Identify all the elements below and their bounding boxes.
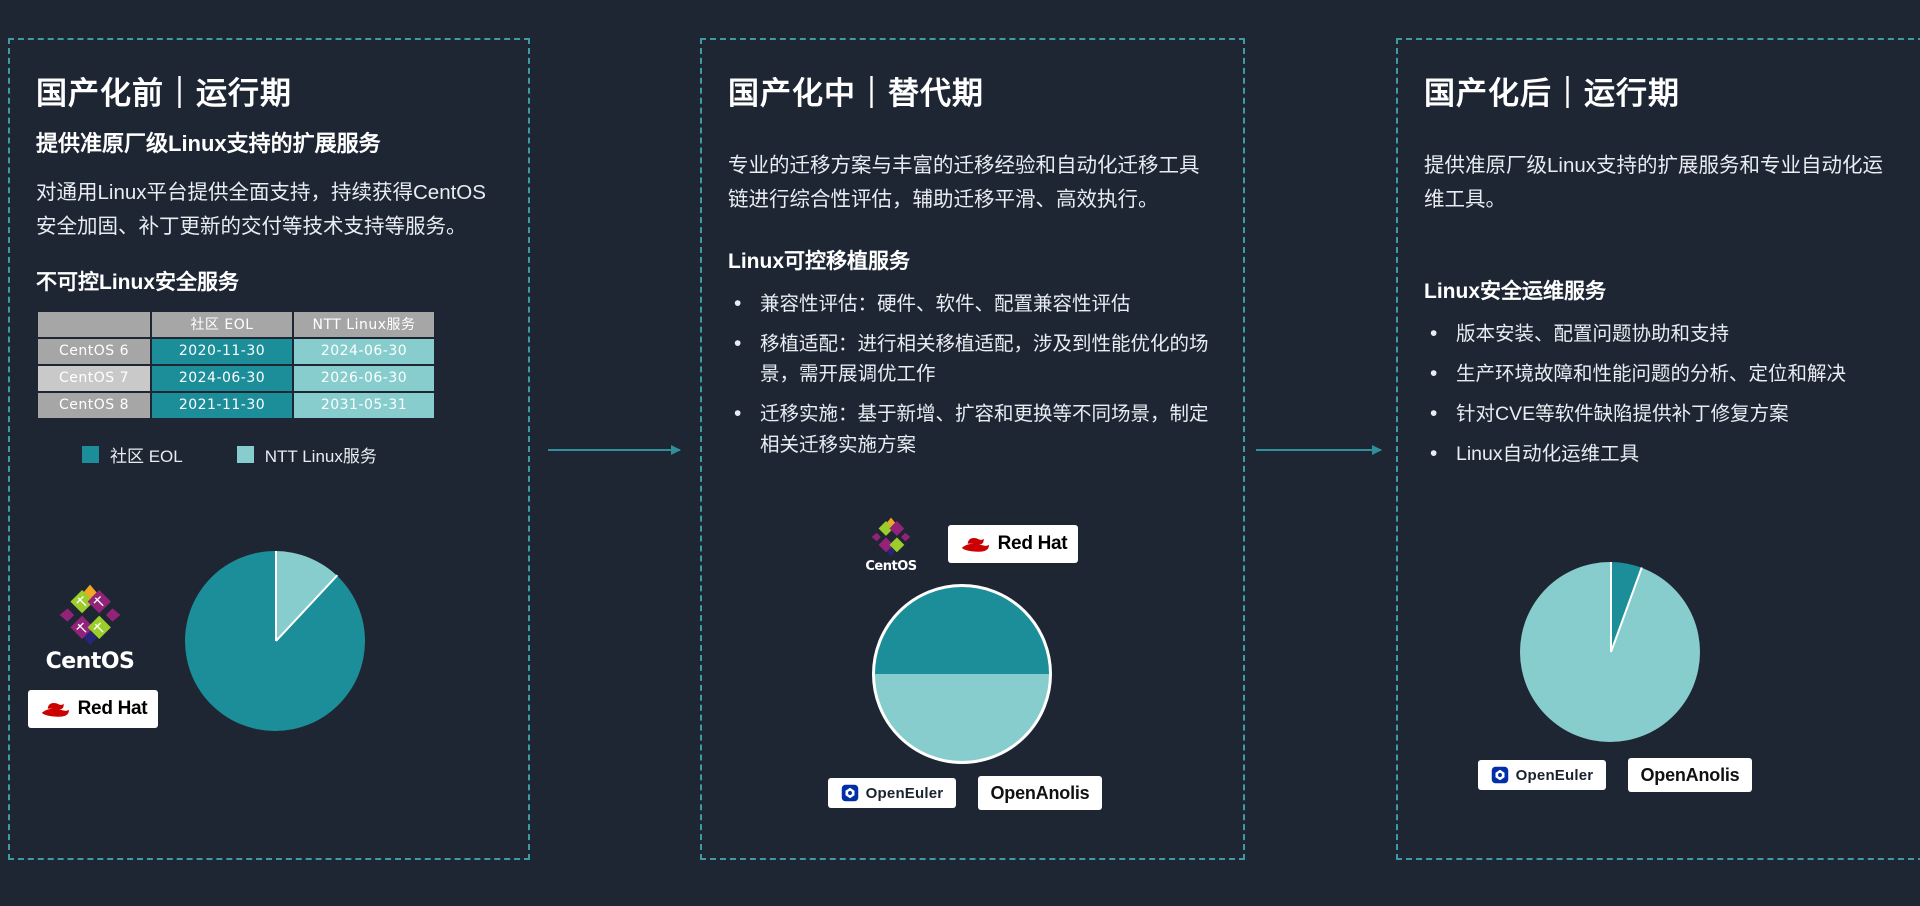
panel-1-subtitle: 提供准原厂级Linux支持的扩展服务: [36, 127, 502, 160]
openeuler-icon: [1491, 766, 1509, 784]
panel-3-section-heading: Linux安全运维服务: [1424, 275, 1896, 305]
centos-logo-2: CentOS: [860, 516, 922, 574]
table-cell-eol: 2021-11-30: [152, 393, 292, 418]
redhat-fedora-icon: [39, 699, 71, 720]
centos-logo-1: CentOS: [40, 582, 140, 674]
openanolis-logo-2: OpenAnolis: [978, 776, 1102, 810]
table-cell-ntt: 2031-05-31: [294, 393, 434, 418]
panel-2-section-heading: Linux可控移植服务: [728, 245, 1217, 275]
centos-wordmark: CentOS: [860, 559, 922, 574]
panel-3-title: 国产化后｜运行期: [1424, 68, 1896, 113]
slide-canvas: 国产化前｜运行期 提供准原厂级Linux支持的扩展服务 对通用Linux平台提供…: [0, 0, 1920, 906]
legend-item: NTT Linux服务: [237, 442, 377, 467]
table-cell-os: CentOS 7: [38, 366, 150, 391]
list-item: 移植适配：进行相关移植适配，涉及到性能优化的场景，需开展调优工作: [730, 329, 1217, 389]
panel-1-body: 对通用Linux平台提供全面支持，持续获得CentOS安全加固、补丁更新的交付等…: [36, 176, 502, 244]
legend-label: NTT Linux服务: [265, 442, 377, 467]
openeuler-logo-2: OpenEuler: [828, 778, 956, 808]
redhat-fedora-icon: [959, 534, 991, 555]
list-item: 针对CVE等软件缺陷提供补丁修复方案: [1426, 399, 1896, 429]
list-item: 版本安装、配置问题协助和支持: [1426, 319, 1896, 349]
pie-chart-after: [1520, 562, 1700, 742]
pie-chart-before: [185, 551, 365, 731]
table-header-row: 社区 EOL NTT Linux服务: [38, 312, 434, 337]
redhat-logo-2: Red Hat: [948, 525, 1078, 563]
openanolis-wordmark: OpenAnolis: [1640, 765, 1739, 786]
list-item: 生产环境故障和性能问题的分析、定位和解决: [1426, 359, 1896, 389]
arrow-during-to-after: [1256, 449, 1381, 451]
centos-icon: [870, 516, 912, 558]
panel-after-localization: 国产化后｜运行期 提供准原厂级Linux支持的扩展服务和专业自动化运维工具。 L…: [1396, 38, 1920, 860]
redhat-wordmark: Red Hat: [78, 698, 148, 720]
openanolis-wordmark: OpenAnolis: [990, 783, 1089, 804]
panel-3-bullets: 版本安装、配置问题协助和支持 生产环境故障和性能问题的分析、定位和解决 针对CV…: [1426, 319, 1896, 470]
table-corner-cell: [38, 312, 150, 337]
legend-swatch-community-eol: [82, 446, 99, 463]
list-item: 迁移实施：基于新增、扩容和更换等不同场景，制定相关迁移实施方案: [730, 399, 1217, 459]
redhat-logo-1: Red Hat: [28, 690, 158, 728]
table-row: CentOS 7 2024-06-30 2026-06-30: [38, 366, 434, 391]
table-header-ntt-linux: NTT Linux服务: [294, 312, 434, 337]
table-cell-ntt: 2026-06-30: [294, 366, 434, 391]
openeuler-icon: [841, 784, 859, 802]
table-cell-eol: 2020-11-30: [152, 339, 292, 364]
list-item: 兼容性评估：硬件、软件、配置兼容性评估: [730, 289, 1217, 319]
redhat-wordmark: Red Hat: [998, 533, 1068, 555]
legend-swatch-ntt-linux: [237, 446, 254, 463]
table-cell-os: CentOS 6: [38, 339, 150, 364]
panel-2-title: 国产化中｜替代期: [728, 68, 1217, 113]
panel-1-title: 国产化前｜运行期: [36, 68, 502, 113]
openeuler-wordmark: OpenEuler: [866, 785, 944, 802]
centos-wordmark: CentOS: [40, 649, 140, 674]
legend-item: 社区 EOL: [82, 442, 183, 467]
centos-icon: [57, 582, 123, 648]
arrow-before-to-during: [548, 449, 680, 451]
panel-before-localization: 国产化前｜运行期 提供准原厂级Linux支持的扩展服务 对通用Linux平台提供…: [8, 38, 530, 860]
table-row: CentOS 8 2021-11-30 2031-05-31: [38, 393, 434, 418]
panel-2-bullets: 兼容性评估：硬件、软件、配置兼容性评估 移植适配：进行相关移植适配，涉及到性能优…: [730, 289, 1217, 460]
panel-3-body: 提供准原厂级Linux支持的扩展服务和专业自动化运维工具。: [1424, 149, 1896, 217]
legend-label: 社区 EOL: [110, 442, 183, 467]
chart-legend: 社区 EOL NTT Linux服务: [82, 442, 502, 467]
panel-2-body: 专业的迁移方案与丰富的迁移经验和自动化迁移工具链进行综合性评估，辅助迁移平滑、高…: [728, 149, 1217, 217]
eol-table: 社区 EOL NTT Linux服务 CentOS 6 2020-11-30 2…: [36, 310, 436, 420]
openanolis-logo-3: OpenAnolis: [1628, 758, 1752, 792]
table-header-community-eol: 社区 EOL: [152, 312, 292, 337]
panel-1-section-heading: 不可控Linux安全服务: [36, 266, 502, 296]
table-row: CentOS 6 2020-11-30 2024-06-30: [38, 339, 434, 364]
table-cell-os: CentOS 8: [38, 393, 150, 418]
list-item: Linux自动化运维工具: [1426, 439, 1896, 469]
openeuler-logo-3: OpenEuler: [1478, 760, 1606, 790]
table-cell-ntt: 2024-06-30: [294, 339, 434, 364]
table-cell-eol: 2024-06-30: [152, 366, 292, 391]
pie-chart-during: [872, 584, 1052, 764]
openeuler-wordmark: OpenEuler: [1516, 767, 1594, 784]
